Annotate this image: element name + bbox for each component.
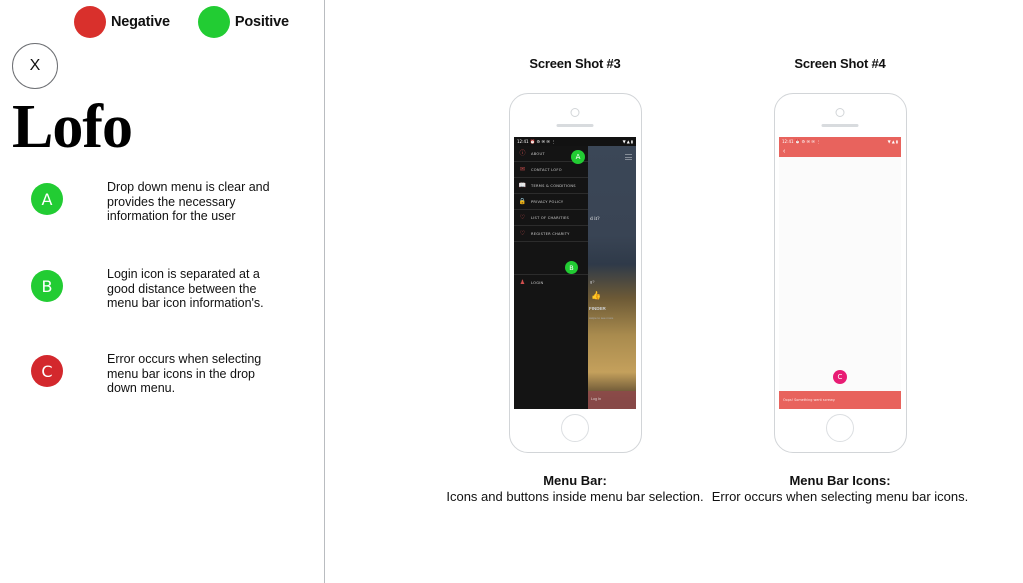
menu-item-label: PRIVACY POLICY [531, 200, 563, 204]
caption-title: Menu Bar: [543, 473, 607, 488]
marker-label: A [576, 153, 581, 161]
sentiment-legend: Negative Positive [74, 6, 317, 38]
status-bar-left: 12:41 ⏰ ⚙ ✉ ✉ ⋮ [782, 139, 820, 144]
menu-item-label: TERMS & CONDITIONS [531, 184, 576, 188]
backdrop-subtext: g? [590, 279, 594, 284]
avatar[interactable]: X [12, 43, 58, 89]
alarm-icon: ⏰ [795, 140, 800, 144]
camera-icon [571, 108, 580, 117]
screenshot-caption-3: Menu Bar: Icons and buttons inside menu … [445, 473, 705, 504]
message-icon: ✉ [546, 140, 549, 144]
list-item: B Login icon is separated at a good dist… [0, 258, 325, 333]
page-title: Lofo [12, 96, 132, 158]
more-icon: ⋮ [816, 140, 820, 144]
marker-label: B [569, 264, 573, 272]
annotation-badge-label: C [41, 362, 52, 381]
speaker-grill [557, 124, 594, 127]
thumbs-up-icon: 👍 [591, 292, 601, 300]
heart-icon: ♡ [519, 214, 526, 221]
navigation-drawer: ⓘ ABOUT ✉ CONTACT LOFO 📖 TERMS & CONDITI… [514, 146, 588, 409]
drawer-body: d it? g? 👍 FINDER swipe to see more Log … [514, 146, 636, 409]
heart-icon: ♡ [519, 230, 526, 237]
menu-item-privacy-policy[interactable]: 🔒 PRIVACY POLICY [514, 194, 588, 210]
backdrop-login-bar[interactable]: Log In [588, 391, 636, 409]
status-bar: 12:41 ⏰ ⚙ ✉ ✉ ⋮ ▼ ▲ ▮ [779, 137, 901, 146]
message-icon: ✉ [807, 140, 810, 144]
caption-body: Icons and buttons inside menu bar select… [446, 489, 703, 504]
menu-item-list-of-charities[interactable]: ♡ LIST OF CHARITIES [514, 210, 588, 226]
battery-icon: ▮ [631, 140, 633, 144]
gear-icon: ⚙ [802, 140, 806, 144]
green-dot-icon [198, 6, 230, 38]
legend-item-negative: Negative [74, 6, 170, 38]
status-bar: 12:41 ⏰ ⚙ ✉ ✉ ⋮ ▼ ▲ ▮ [514, 137, 636, 146]
menu-item-register-charity[interactable]: ♡ REGISTER CHARITY [514, 226, 588, 242]
status-time: 12:41 [517, 139, 529, 144]
message-icon: ✉ [811, 140, 814, 144]
annotation-text-a: Drop down menu is clear and provides the… [107, 180, 279, 224]
home-button[interactable] [826, 414, 854, 442]
wifi-icon: ▼ [888, 140, 891, 144]
menu-item-contact-lofo[interactable]: ✉ CONTACT LOFO [514, 162, 588, 178]
app-bar: ‹ [779, 146, 901, 157]
screenshot-column-4: Screen Shot #4 12:41 ⏰ ⚙ ✉ ✉ ⋮ ▼ [710, 0, 970, 504]
annotation-panel: Negative Positive X Lofo A Drop down men… [0, 0, 325, 583]
status-time: 12:41 [782, 139, 794, 144]
info-icon: ⓘ [519, 150, 526, 157]
camera-icon [836, 108, 845, 117]
backdrop-finder-label: FINDER [589, 306, 606, 311]
caption-body: Error occurs when selecting menu bar ico… [712, 489, 969, 504]
chevron-left-icon[interactable]: ‹ [783, 148, 785, 155]
wifi-icon: ▼ [623, 140, 626, 144]
annotation-list: A Drop down menu is clear and provides t… [0, 183, 325, 408]
caption-title: Menu Bar Icons: [789, 473, 890, 488]
annotation-badge-b: B [31, 270, 63, 302]
hamburger-icon[interactable] [625, 154, 632, 160]
annotation-text-c: Error occurs when selecting menu bar ico… [107, 352, 279, 396]
status-bar-left: 12:41 ⏰ ⚙ ✉ ✉ ⋮ [517, 139, 555, 144]
phone-screen-3[interactable]: 12:41 ⏰ ⚙ ✉ ✉ ⋮ ▼ ▲ ▮ [514, 137, 636, 409]
screenshot-title-4: Screen Shot #4 [710, 56, 970, 71]
marker-label: C [838, 373, 843, 381]
menu-item-label: REGISTER CHARITY [531, 232, 570, 236]
phone-mockup-4: 12:41 ⏰ ⚙ ✉ ✉ ⋮ ▼ ▲ ▮ ‹ [774, 93, 907, 453]
backdrop-login-label: Log In [591, 397, 601, 401]
annotation-badge-a: A [31, 183, 63, 215]
user-icon: ♟ [519, 279, 526, 286]
screenshot-column-3: Screen Shot #3 12:41 ⏰ ⚙ ✉ ✉ ⋮ ▼ [445, 0, 705, 504]
more-icon: ⋮ [551, 140, 555, 144]
error-toast: Oops! Something went screwy. [779, 391, 901, 409]
mail-icon: ✉ [519, 166, 526, 173]
phone-mockup-3: 12:41 ⏰ ⚙ ✉ ✉ ⋮ ▼ ▲ ▮ [509, 93, 642, 453]
blank-content-area [779, 157, 901, 391]
status-bar-right: ▼ ▲ ▮ [888, 140, 898, 144]
message-icon: ✉ [542, 140, 545, 144]
signal-icon: ▲ [892, 140, 895, 144]
annotation-text-b: Login icon is separated at a good distan… [107, 267, 279, 311]
book-icon: 📖 [519, 182, 526, 189]
phone-screen-4[interactable]: 12:41 ⏰ ⚙ ✉ ✉ ⋮ ▼ ▲ ▮ ‹ [779, 137, 901, 409]
menu-item-label: ABOUT [531, 152, 545, 156]
screenshot-title-3: Screen Shot #3 [445, 56, 705, 71]
home-button[interactable] [561, 414, 589, 442]
lock-icon: 🔒 [519, 198, 526, 205]
page-backdrop: d it? g? 👍 FINDER swipe to see more Log … [588, 146, 636, 409]
red-dot-icon [74, 6, 106, 38]
status-bar-right: ▼ ▲ ▮ [623, 140, 633, 144]
legend-item-positive: Positive [198, 6, 289, 38]
legend-label-positive: Positive [235, 14, 289, 30]
annotation-badge-label: A [42, 190, 53, 209]
backdrop-finder-sub: swipe to see more [589, 316, 613, 320]
marker-c: C [833, 370, 847, 384]
marker-b: B [565, 261, 578, 274]
screenshot-caption-4: Menu Bar Icons: Error occurs when select… [710, 473, 970, 504]
menu-item-terms-conditions[interactable]: 📖 TERMS & CONDITIONS [514, 178, 588, 194]
screenshot-panel: Screen Shot #3 12:41 ⏰ ⚙ ✉ ✉ ⋮ ▼ [325, 0, 1023, 583]
error-toast-text: Oops! Something went screwy. [783, 398, 835, 402]
menu-item-label: LOGIN [531, 281, 544, 285]
annotation-badge-c: C [31, 355, 63, 387]
list-item: C Error occurs when selecting menu bar i… [0, 333, 325, 408]
avatar-initial: X [30, 57, 41, 75]
marker-a: A [571, 150, 585, 164]
gear-icon: ⚙ [537, 140, 541, 144]
menu-item-login[interactable]: ♟ LOGIN [514, 274, 588, 290]
alarm-icon: ⏰ [530, 140, 535, 144]
battery-icon: ▮ [896, 140, 898, 144]
speaker-grill [822, 124, 859, 127]
list-item: A Drop down menu is clear and provides t… [0, 183, 325, 258]
legend-label-negative: Negative [111, 14, 170, 30]
menu-item-label: CONTACT LOFO [531, 168, 562, 172]
signal-icon: ▲ [627, 140, 630, 144]
annotation-badge-label: B [42, 277, 53, 296]
menu-item-label: LIST OF CHARITIES [531, 216, 569, 220]
backdrop-headline: d it? [590, 216, 600, 222]
